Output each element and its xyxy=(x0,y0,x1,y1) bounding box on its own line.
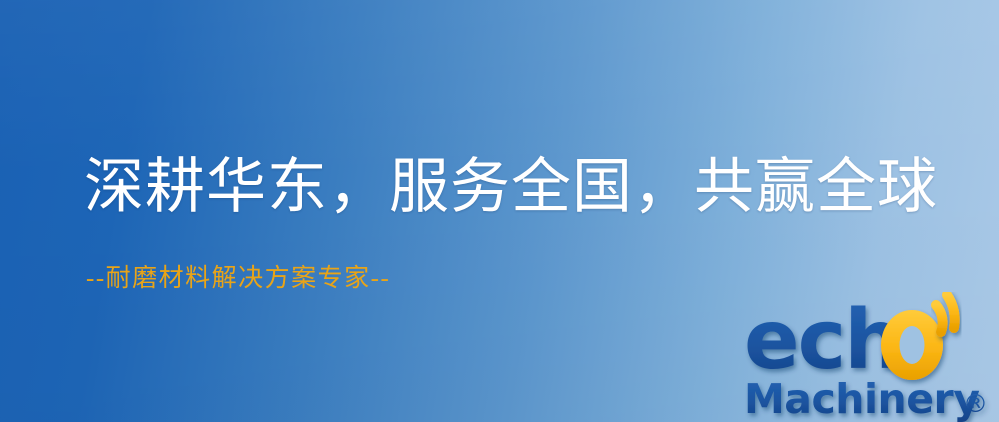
promotional-banner: 深耕华东，服务全国，共赢全球 --耐磨材料解决方案专家-- xyxy=(0,0,999,422)
logo-subwordmark-machinery: Machinery ® xyxy=(744,375,988,422)
logo-wordmark-echo: ech xyxy=(744,293,901,388)
echo-machinery-logo[interactable]: ech Machinery ® xyxy=(742,292,999,422)
svg-text:Machinery: Machinery xyxy=(744,375,979,422)
logo-letter-o-icon xyxy=(881,310,943,380)
svg-text:ech: ech xyxy=(744,293,901,388)
svg-text:®: ® xyxy=(963,389,988,418)
banner-subtitle: --耐磨材料解决方案专家-- xyxy=(86,266,390,291)
banner-headline: 深耕华东，服务全国，共赢全球 xyxy=(84,157,938,217)
signal-waves-icon xyxy=(936,295,955,332)
